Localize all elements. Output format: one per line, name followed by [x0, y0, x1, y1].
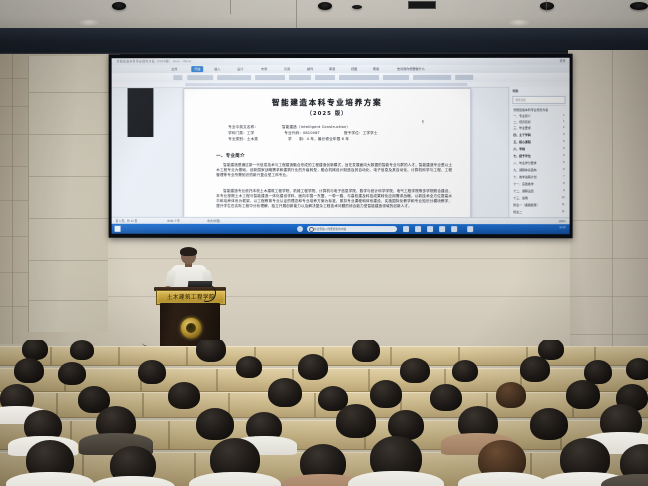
nav-item-9[interactable]: 九、课程体系结构 [513, 168, 536, 172]
word-icon[interactable] [467, 226, 473, 232]
nav-item-1[interactable]: 一、专业简介 [513, 114, 530, 118]
meta-line-3: 专业类别：土木类学 制：4 年，最长修业年限 6 年 [228, 137, 349, 142]
nav-page-5: 5 [563, 140, 565, 143]
ceiling-vent [408, 1, 436, 9]
nav-page-12: 9 [563, 189, 565, 192]
tab-insert[interactable]: 插入 [214, 66, 220, 71]
nav-item-7[interactable]: 七、授予学位 [513, 154, 530, 158]
tell-me-box[interactable]: 告诉我你想要做什么 [397, 66, 425, 71]
section-heading: 一、专业简介 [216, 153, 245, 159]
nav-item-12[interactable]: 十二、课程设置 [513, 189, 533, 193]
ceiling [0, 0, 648, 30]
cortana-icon[interactable] [297, 226, 303, 232]
document-page[interactable]: 智能建造本科专业培养方案 （2025 版） ¶ 专业中英文名称：智能建造（Int… [183, 88, 471, 230]
status-words[interactable]: 8236 个字 [167, 219, 180, 223]
projection-screen: 智能建造本科专业培养方案（2025版）.docx - Word 登录 文件 开始… [109, 54, 573, 238]
word-signin-label[interactable]: 登录 [560, 59, 566, 63]
nav-page-7: 5 [563, 154, 565, 157]
paragraph-1: 智能建造是通过新一代信息技术与工程建造融合形成的工程建造创新模式，旨在发展面向大… [216, 163, 452, 178]
nav-page-9: 6 [563, 168, 565, 171]
ceiling-dark-band [0, 28, 648, 56]
university-emblem-icon [180, 317, 202, 339]
nav-page-10: 7 [563, 175, 565, 178]
nav-page-11: 8 [563, 182, 565, 185]
recessed-light [78, 19, 100, 26]
meta-line-2: 学科门类：工学专业代码：081008T授予学位：工学学士 [228, 131, 377, 136]
tab-design[interactable]: 设计 [237, 66, 243, 71]
nav-item-10[interactable]: 十、教学进程计划 [513, 175, 536, 179]
document-title: 智能建造本科专业培养方案 [184, 97, 470, 108]
nav-page-3: 2 [563, 126, 565, 129]
nav-page-6: 5 [563, 147, 565, 150]
nav-item-4[interactable]: 四、主干学科 [513, 133, 530, 137]
tab-home[interactable]: 开始 [191, 66, 203, 72]
nav-page-8: 6 [563, 161, 565, 164]
nav-item-13[interactable]: 十三、说明 [513, 196, 528, 200]
nav-page-4: 5 [563, 133, 565, 136]
nav-page-2: 1 [563, 120, 565, 123]
nav-item-14[interactable]: 附表一（课程矩阵） [513, 203, 539, 207]
status-page[interactable]: 第 1 页，共 12 页 [116, 219, 138, 223]
projected-desktop: 智能建造本科专业培养方案（2025版）.docx - Word 登录 文件 开始… [112, 58, 570, 234]
nav-item-11[interactable]: 十一、实践教学 [513, 182, 533, 186]
audience [0, 340, 648, 486]
nav-item-0[interactable]: 智能建造本科专业培养方案 [513, 108, 548, 112]
wall-panel-left [28, 56, 112, 332]
taskbar-search-input[interactable]: 在这里输入你要搜索的内容 [307, 226, 397, 232]
store-icon[interactable] [451, 226, 457, 232]
speaker-hair [180, 247, 197, 256]
navigation-pane[interactable]: 导航 close-icon 搜索文档 智能建造本科专业培养方案 一、专业简介 1… [508, 87, 569, 224]
nav-item-2[interactable]: 二、培养目标 [513, 120, 530, 124]
nav-item-8[interactable]: 八、毕业学分要求 [513, 161, 536, 165]
system-tray-clock[interactable]: 11:23 [559, 227, 565, 230]
task-view-icon[interactable] [403, 226, 409, 232]
nav-page-1: 1 [563, 114, 565, 117]
tab-mailings[interactable]: 邮件 [307, 66, 313, 71]
tab-view[interactable]: 视图 [351, 66, 357, 71]
mail-icon[interactable] [439, 226, 445, 232]
windows-taskbar: 在这里输入你要搜索的内容 11:23 [112, 224, 570, 234]
tab-references[interactable]: 引用 [284, 66, 290, 71]
nav-item-5[interactable]: 五、核心课程 [513, 140, 530, 144]
wall-right [568, 50, 648, 350]
tab-help[interactable]: 帮助 [373, 66, 379, 71]
tab-file[interactable]: 文件 [171, 66, 177, 71]
nav-page-13: 10 [562, 196, 565, 199]
recessed-light [508, 19, 530, 26]
tab-layout[interactable]: 布局 [261, 66, 267, 71]
edge-icon[interactable] [415, 226, 421, 232]
nav-item-15[interactable]: 附表二 [513, 210, 522, 214]
document-subtitle: （2025 版） [184, 109, 470, 117]
tab-review[interactable]: 审阅 [329, 66, 335, 71]
nav-page-15: 11 [562, 210, 565, 213]
navigation-search-input[interactable]: 搜索文档 [512, 96, 565, 104]
status-zoom[interactable]: 100% [558, 219, 565, 223]
word-document-title: 智能建造本科专业培养方案（2025版）.docx - Word [117, 59, 192, 63]
start-button-icon[interactable] [115, 226, 121, 232]
paragraph-2: 智能建造专业依托本校土木建筑工程学院、机械工程学院、计算机与电子信息学院、数学与… [216, 189, 452, 210]
navigation-pane-title: 导航 [512, 89, 518, 93]
explorer-icon[interactable] [427, 226, 433, 232]
status-language[interactable]: 中文(中国) [207, 219, 220, 223]
nav-item-6[interactable]: 六、学制 [513, 147, 525, 151]
nav-page-14: 11 [562, 203, 565, 206]
paragraph-mark: ¶ [422, 119, 424, 124]
meta-line-1: 专业中英文名称：智能建造（Intelligent Construction） [228, 125, 350, 130]
lecture-hall-scene: 智能建造本科专业培养方案（2025版）.docx - Word 登录 文件 开始… [0, 0, 648, 486]
nav-item-3[interactable]: 三、毕业要求 [513, 126, 530, 130]
